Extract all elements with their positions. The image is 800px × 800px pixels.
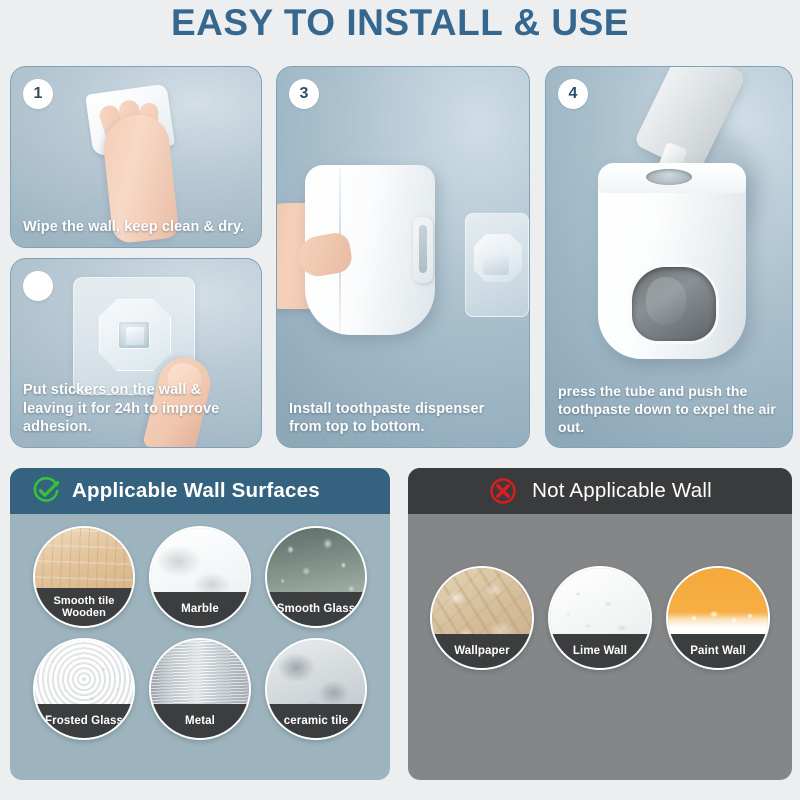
applicable-surface-grid: Smooth tileWooden Marble Smooth Glass Fr… (10, 514, 390, 740)
sticker-clip-icon (118, 321, 150, 349)
surface-swatch: ceramic tile (265, 638, 367, 740)
surface-label: Metal (151, 704, 249, 738)
surface-label: Wallpaper (432, 634, 532, 668)
surface-swatch: Paint Wall (666, 566, 770, 670)
surface-swatch: Metal (149, 638, 251, 740)
not-applicable-title: Not Applicable Wall (532, 479, 712, 503)
surface-swatch: Frosted Glass (33, 638, 135, 740)
surface-label: Lime Wall (550, 634, 650, 668)
step-panel-4: 4 press the tube and push the toothpaste… (545, 66, 793, 448)
step-badge-3: 3 (289, 79, 319, 109)
surface-swatch: Smooth tileWooden (33, 526, 135, 628)
not-applicable-walls-card: Not Applicable Wall Wallpaper Lime Wall … (408, 468, 792, 780)
applicable-header: Applicable Wall Surfaces (10, 468, 390, 514)
step-panel-3: 3 Install toothpaste dispenser from top … (276, 66, 530, 448)
surface-label: Marble (151, 592, 249, 626)
surface-label: ceramic tile (267, 704, 365, 738)
step-panel-2: Put stickers on the wall & leaving it fo… (10, 258, 262, 448)
dispenser-inlet-hole-icon (646, 169, 692, 185)
surface-label: Paint Wall (668, 634, 768, 668)
infographic-root: EASY TO INSTALL & USE 1 Wipe the wall, k… (0, 0, 800, 800)
cross-circle-icon (488, 476, 518, 506)
step-caption-4: press the tube and push the toothpaste d… (558, 383, 782, 437)
dispenser-mount-clip-icon (413, 217, 433, 283)
check-circle-icon (32, 477, 60, 505)
surface-label: Smooth tileWooden (35, 588, 133, 626)
step-panel-1: 1 Wipe the wall, keep clean & dry. (10, 66, 262, 248)
step-caption-1: Wipe the wall, keep clean & dry. (23, 218, 251, 237)
surface-swatch: Smooth Glass (265, 526, 367, 628)
wall-surfaces-section: Applicable Wall Surfaces Smooth tileWood… (0, 462, 800, 792)
surface-swatch: Wallpaper (430, 566, 534, 670)
step-badge-2 (23, 271, 53, 301)
step-caption-3: Install toothpaste dispenser from top to… (289, 400, 519, 437)
surface-label: Smooth Glass (267, 592, 365, 626)
applicable-title: Applicable Wall Surfaces (72, 479, 320, 503)
surface-swatch: Lime Wall (548, 566, 652, 670)
applicable-walls-card: Applicable Wall Surfaces Smooth tileWood… (10, 468, 390, 780)
sticker-clip-icon (483, 255, 509, 275)
surface-label: Frosted Glass (35, 704, 133, 738)
step-badge-1: 1 (23, 79, 53, 109)
install-steps-section: 1 Wipe the wall, keep clean & dry. Put s… (0, 62, 800, 452)
dispenser-outlet-window-icon (632, 267, 716, 341)
step-badge-4: 4 (558, 79, 588, 109)
page-title: EASY TO INSTALL & USE (0, 2, 800, 44)
surface-swatch: Marble (149, 526, 251, 628)
not-applicable-header: Not Applicable Wall (408, 468, 792, 514)
step-caption-2: Put stickers on the wall & leaving it fo… (23, 381, 251, 437)
not-applicable-surface-grid: Wallpaper Lime Wall Paint Wall (408, 514, 792, 670)
step-3-photo (277, 67, 529, 447)
